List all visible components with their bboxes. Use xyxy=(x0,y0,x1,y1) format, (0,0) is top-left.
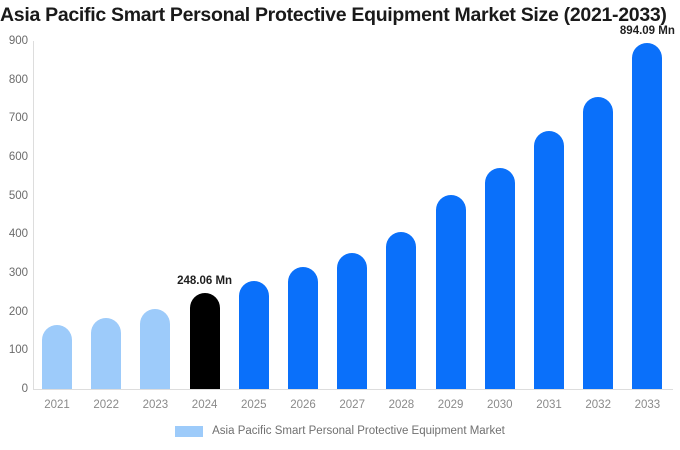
bar-series: 248.06 Mn894.09 Mn xyxy=(33,41,673,389)
y-axis-tick: 800 xyxy=(0,74,28,86)
bar-2022[interactable] xyxy=(91,318,121,389)
x-axis-line xyxy=(33,389,673,390)
y-axis-tick: 300 xyxy=(0,267,28,279)
legend-swatch-icon xyxy=(175,426,203,437)
bar-value-label-2024: 248.06 Mn xyxy=(177,275,232,288)
legend-item-label: Asia Pacific Smart Personal Protective E… xyxy=(212,424,505,438)
x-axis-tick-labels: 2021202220232024202520262027202820292030… xyxy=(33,398,673,416)
bar-2026[interactable] xyxy=(288,267,318,389)
bar-2027[interactable] xyxy=(337,253,367,389)
y-axis-tick: 600 xyxy=(0,151,28,163)
chart-container: Asia Pacific Smart Personal Protective E… xyxy=(0,0,680,450)
y-axis-tick: 400 xyxy=(0,228,28,240)
chart-legend: Asia Pacific Smart Personal Protective E… xyxy=(0,424,680,438)
bar-2028[interactable] xyxy=(386,232,416,389)
bar-2029[interactable] xyxy=(436,195,466,389)
y-axis-tick: 900 xyxy=(0,35,28,47)
y-axis-tick: 0 xyxy=(0,383,28,395)
x-axis-tick-2033: 2033 xyxy=(617,398,677,412)
y-axis-tick: 100 xyxy=(0,344,28,356)
bar-value-label-2033: 894.09 Mn xyxy=(620,25,675,38)
bar-2032[interactable] xyxy=(583,97,613,389)
y-axis-tick: 500 xyxy=(0,190,28,202)
bar-2031[interactable] xyxy=(534,131,564,389)
bar-2030[interactable] xyxy=(485,168,515,389)
y-axis-tick: 700 xyxy=(0,112,28,124)
y-axis-tick-labels: 0100200300400500600700800900 xyxy=(0,41,28,389)
bar-2025[interactable] xyxy=(239,281,269,389)
bar-2024[interactable] xyxy=(190,293,220,389)
bar-2033[interactable] xyxy=(632,43,662,389)
bar-2021[interactable] xyxy=(42,325,72,389)
chart-title: Asia Pacific Smart Personal Protective E… xyxy=(0,2,680,28)
y-axis-tick: 200 xyxy=(0,306,28,318)
bar-2023[interactable] xyxy=(140,309,170,389)
